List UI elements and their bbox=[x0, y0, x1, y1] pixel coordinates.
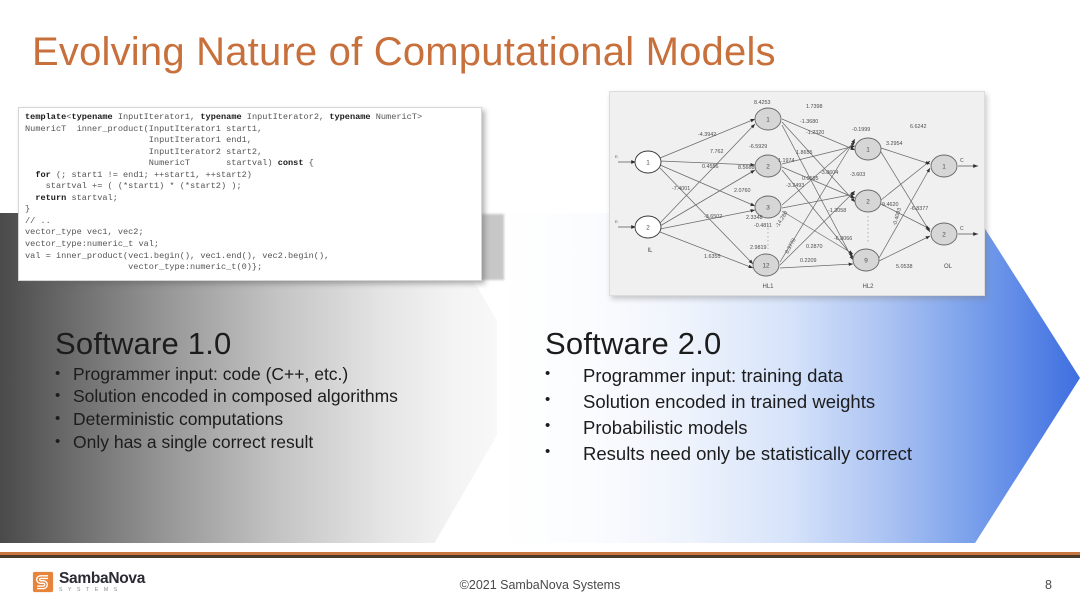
svg-text:-3.8604: -3.8604 bbox=[820, 170, 838, 176]
bullet-icon: • bbox=[545, 363, 583, 385]
svg-text:C: C bbox=[960, 158, 964, 164]
software-1-heading: Software 1.0 bbox=[55, 328, 525, 361]
svg-text:0.2209: 0.2209 bbox=[800, 258, 817, 264]
svg-text:OL: OL bbox=[944, 264, 953, 270]
list-item: • Only has a single correct result bbox=[55, 431, 525, 454]
svg-text:0.2870: 0.2870 bbox=[806, 244, 823, 250]
svg-text:5.0538: 5.0538 bbox=[896, 264, 913, 270]
page-number: 8 bbox=[1045, 578, 1052, 592]
bullet-icon: • bbox=[55, 385, 73, 407]
svg-text:3: 3 bbox=[766, 205, 770, 212]
svg-text:-1.3680: -1.3680 bbox=[800, 119, 818, 125]
list-item: • Deterministic computations bbox=[55, 408, 525, 431]
list-item-label: Only has a single correct result bbox=[73, 431, 313, 454]
svg-text:2: 2 bbox=[646, 225, 650, 232]
svg-text:2.3348: 2.3348 bbox=[746, 215, 763, 221]
list-item: • Programmer input: training data bbox=[545, 363, 1025, 389]
list-item-label: Programmer input: training data bbox=[583, 363, 843, 389]
list-item-label: Results need only be statistically corre… bbox=[583, 441, 912, 467]
list-item: • Solution encoded in composed algorithm… bbox=[55, 385, 525, 408]
slide-canvas: Evolving Nature of Computational Models … bbox=[0, 0, 1080, 608]
page-title: Evolving Nature of Computational Models bbox=[32, 30, 776, 75]
copyright-text: ©2021 SambaNova Systems bbox=[0, 578, 1080, 592]
list-item-label: Solution encoded in trained weights bbox=[583, 389, 875, 415]
code-text: template<typename InputIterator1, typena… bbox=[19, 108, 481, 274]
list-item-label: Solution encoded in composed algorithms bbox=[73, 385, 398, 408]
svg-text:HL2: HL2 bbox=[862, 284, 874, 290]
svg-text:9.4620: 9.4620 bbox=[882, 202, 899, 208]
svg-text:6.6242: 6.6242 bbox=[910, 124, 927, 130]
svg-text:-6.5929: -6.5929 bbox=[749, 144, 767, 150]
svg-text:1.1974: 1.1974 bbox=[778, 158, 795, 164]
svg-text:0.4556: 0.4556 bbox=[702, 164, 719, 170]
bullet-icon: • bbox=[55, 431, 73, 453]
svg-text:-4.3942: -4.3942 bbox=[698, 132, 716, 138]
software-2-panel: Software 2.0 • Programmer input: trainin… bbox=[545, 328, 1025, 468]
svg-text:9: 9 bbox=[864, 258, 868, 265]
svg-text:2: 2 bbox=[866, 199, 870, 206]
svg-text:-7.4001: -7.4001 bbox=[672, 186, 690, 192]
svg-text:1: 1 bbox=[766, 117, 770, 124]
svg-text:8.5668: 8.5668 bbox=[738, 165, 755, 171]
svg-text:-1.3058: -1.3058 bbox=[828, 208, 846, 214]
software-1-panel: Software 1.0 • Programmer input: code (C… bbox=[55, 328, 525, 454]
svg-text:-0.4811: -0.4811 bbox=[754, 223, 772, 229]
bullet-icon: • bbox=[545, 389, 583, 411]
svg-text:2.9819: 2.9819 bbox=[750, 245, 767, 251]
svg-text:1.8655: 1.8655 bbox=[796, 150, 813, 156]
svg-text:IL: IL bbox=[647, 248, 653, 254]
svg-text:3.2954: 3.2954 bbox=[886, 141, 903, 147]
svg-text:n: n bbox=[615, 154, 618, 159]
svg-text:-0.1999: -0.1999 bbox=[852, 127, 870, 133]
svg-text:2: 2 bbox=[942, 232, 946, 239]
code-screenshot: template<typename InputIterator1, typena… bbox=[18, 107, 482, 281]
svg-text:1: 1 bbox=[866, 147, 870, 154]
software-2-heading: Software 2.0 bbox=[545, 328, 1025, 361]
bullet-icon: • bbox=[55, 363, 73, 385]
svg-text:2: 2 bbox=[766, 164, 770, 171]
svg-text:0.0595: 0.0595 bbox=[802, 176, 819, 182]
svg-text:8.4253: 8.4253 bbox=[754, 100, 771, 106]
bullet-icon: • bbox=[55, 408, 73, 430]
svg-text:12: 12 bbox=[762, 263, 770, 270]
list-item: • Solution encoded in trained weights bbox=[545, 389, 1025, 415]
software-2-bullet-list: • Programmer input: training data • Solu… bbox=[545, 363, 1025, 468]
svg-text:2.0760: 2.0760 bbox=[734, 188, 751, 194]
bullet-icon: • bbox=[545, 415, 583, 437]
list-item: • Programmer input: code (C++, etc.) bbox=[55, 363, 525, 386]
footer-divider-bottom bbox=[0, 555, 1080, 558]
list-item: • Results need only be statistically cor… bbox=[545, 441, 1025, 467]
neural-network-diagram: n n bbox=[609, 91, 985, 296]
svg-text:-6.8066: -6.8066 bbox=[834, 236, 852, 242]
list-item-label: Programmer input: code (C++, etc.) bbox=[73, 363, 348, 386]
svg-text:n: n bbox=[615, 219, 618, 224]
svg-text:-6.8377: -6.8377 bbox=[910, 206, 928, 212]
list-item: • Probabilistic models bbox=[545, 415, 1025, 441]
svg-text:HL1: HL1 bbox=[762, 284, 774, 290]
svg-text:1.6355: 1.6355 bbox=[704, 254, 721, 260]
svg-text:1.7398: 1.7398 bbox=[806, 104, 823, 110]
list-item-label: Deterministic computations bbox=[73, 408, 283, 431]
svg-text:1: 1 bbox=[646, 160, 650, 167]
bullet-icon: • bbox=[545, 441, 583, 463]
svg-text:-3.6502: -3.6502 bbox=[704, 214, 722, 220]
svg-text:-3.2493: -3.2493 bbox=[786, 183, 804, 189]
software-1-bullet-list: • Programmer input: code (C++, etc.) • S… bbox=[55, 363, 525, 455]
svg-text:-3.603: -3.603 bbox=[850, 172, 865, 178]
list-item-label: Probabilistic models bbox=[583, 415, 748, 441]
svg-text:C: C bbox=[960, 226, 964, 232]
svg-text:1: 1 bbox=[942, 164, 946, 171]
svg-text:-1.2320: -1.2320 bbox=[806, 130, 824, 136]
svg-text:7.762: 7.762 bbox=[710, 149, 724, 155]
